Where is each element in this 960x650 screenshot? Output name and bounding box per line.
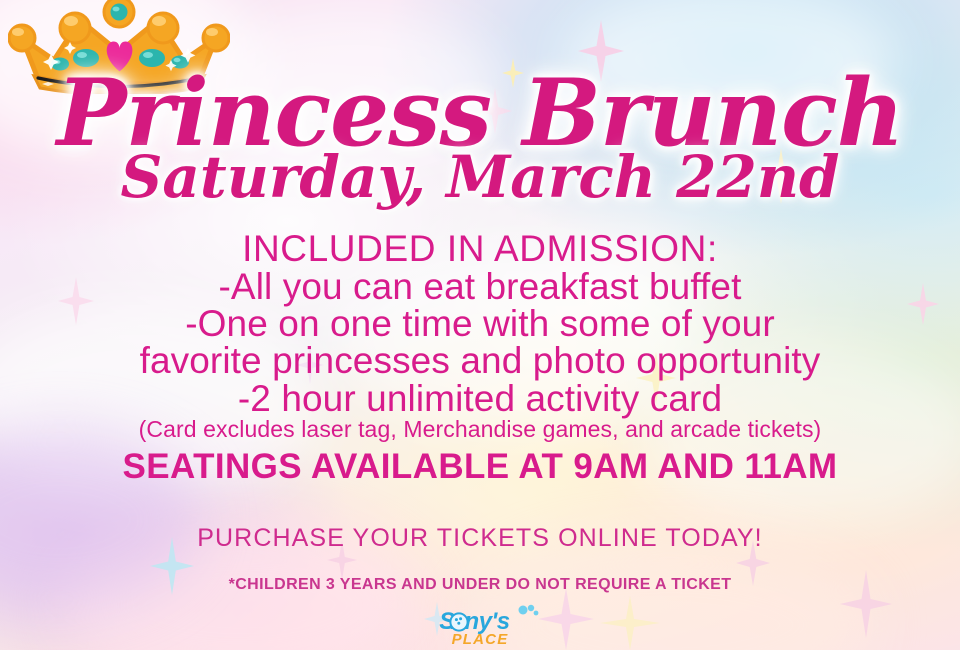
children-policy-note: *CHILDREN 3 YEARS AND UNDER DO NOT REQUI… xyxy=(0,576,960,594)
admission-item-activity-card: -2 hour unlimited activity card xyxy=(0,378,960,420)
svg-text:PLACE: PLACE xyxy=(452,631,509,648)
purchase-call-to-action: PURCHASE YOUR TICKETS ONLINE TODAY! xyxy=(0,524,960,553)
activity-card-exclusions: (Card excludes laser tag, Merchandise ga… xyxy=(0,416,960,443)
admission-heading: INCLUDED IN ADMISSION: xyxy=(0,228,960,270)
admission-item-buffet: -All you can eat breakfast buffet xyxy=(0,266,960,308)
event-date: Saturday, March 22nd xyxy=(0,148,960,206)
princess-brunch-flyer: Princess Brunch Saturday, March 22nd INC… xyxy=(0,0,960,650)
admission-item-meetgreet-line1: -One on one time with some of your xyxy=(0,303,960,345)
seating-times: SEATINGS AVAILABLE AT 9AM AND 11AM xyxy=(0,447,960,487)
sonnys-place-logo: S nny's PLACE xyxy=(0,604,960,650)
admission-item-meetgreet-line2: favorite princesses and photo opportunit… xyxy=(0,340,960,382)
